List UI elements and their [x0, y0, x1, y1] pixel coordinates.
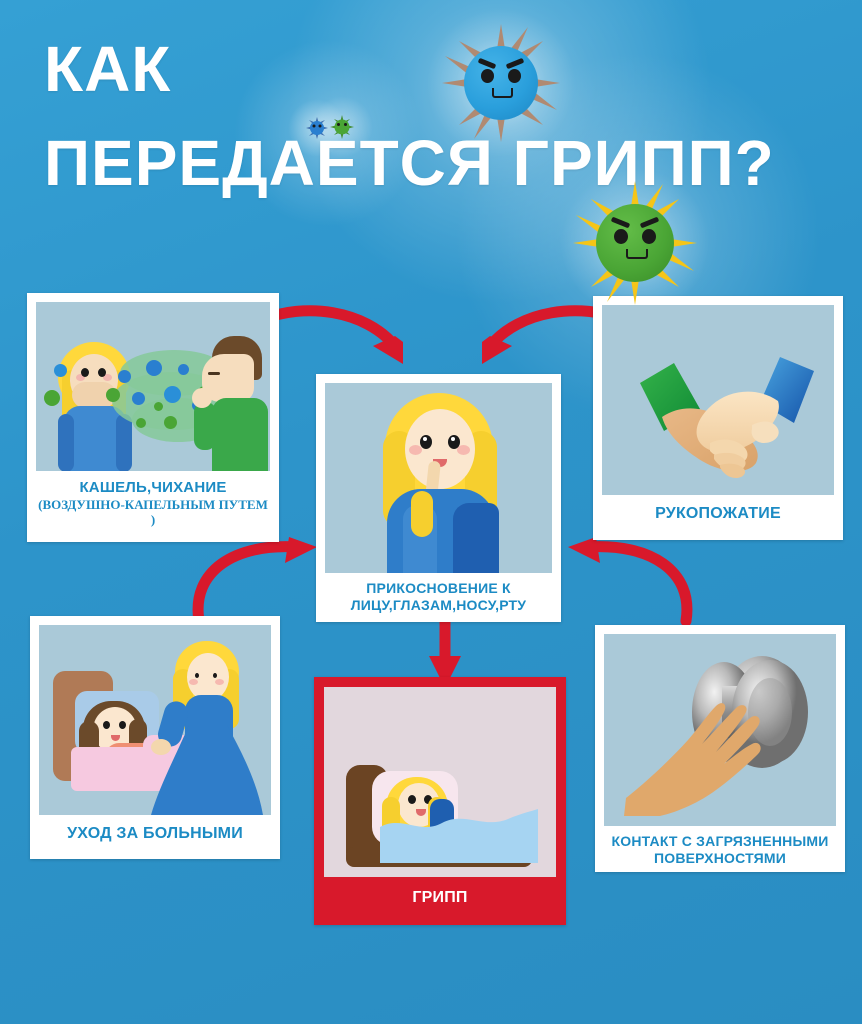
page-title-line1: КАК [44, 32, 171, 106]
virus-green-large-icon [572, 180, 698, 306]
panel-surfaces-caption: КОНТАКТ С ЗАГРЯЗНЕННЫМИ ПОВЕРХНОСТЯМИ [604, 833, 836, 866]
infographic-poster: КАК ПЕРЕДАЕТСЯ ГРИПП? [0, 0, 862, 1024]
panel-caring-for-sick[interactable]: УХОД ЗА БОЛЬНЫМИ [30, 616, 280, 859]
panel-touching-face-caption-line2: ЛИЦУ,ГЛАЗАМ,НОСУ,РТУ [351, 597, 526, 613]
panel-flu-result[interactable]: ГРИПП [314, 677, 566, 925]
panel-handshake-caption: РУКОПОЖАТИЕ [602, 505, 834, 524]
panel-cough-caption-sub: (ВОЗДУШНО-КАПЕЛЬНЫМ ПУТЕМ ) [36, 497, 270, 528]
panel-flu-caption: ГРИПП [324, 889, 556, 908]
panel-cough-caption-main: КАШЕЛЬ,ЧИХАНИЕ [79, 479, 226, 496]
contaminated-surfaces-illustration [604, 634, 836, 826]
panel-caring-caption: УХОД ЗА БОЛЬНЫМИ [39, 825, 271, 844]
handshake-illustration [602, 305, 834, 495]
panel-cough-sneeze[interactable]: КАШЕЛЬ,ЧИХАНИЕ (ВОЗДУШНО-КАПЕЛЬНЫМ ПУТЕМ… [27, 293, 279, 542]
flu-illustration [324, 687, 556, 877]
panel-cough-caption: КАШЕЛЬ,ЧИХАНИЕ (ВОЗДУШНО-КАПЕЛЬНЫМ ПУТЕМ… [36, 479, 270, 527]
touching-face-illustration [325, 383, 552, 573]
caring-for-sick-illustration [39, 625, 271, 815]
cough-illustration [36, 302, 270, 471]
panel-touching-face[interactable]: ПРИКОСНОВЕНИЕ К ЛИЦУ,ГЛАЗАМ,НОСУ,РТУ [316, 374, 561, 622]
virus-blue-large-icon [440, 22, 562, 144]
virus-blue-small-icon [306, 117, 328, 139]
blanket [380, 805, 538, 863]
panel-surfaces-caption-line1: КОНТАКТ С ЗАГРЯЗНЕННЫМИ [612, 833, 829, 849]
panel-touching-face-caption: ПРИКОСНОВЕНИЕ К ЛИЦУ,ГЛАЗАМ,НОСУ,РТУ [325, 580, 552, 613]
doorknob-svg [604, 634, 836, 826]
panel-handshake[interactable]: РУКОПОЖАТИЕ [593, 296, 843, 540]
virus-green-small-icon [330, 115, 354, 139]
arrow-cough-to-center [255, 298, 425, 378]
panel-surfaces-caption-line2: ПОВЕРХНОСТЯМИ [654, 850, 786, 866]
panel-touching-face-caption-line1: ПРИКОСНОВЕНИЕ К [366, 580, 510, 596]
arrow-surfaces-to-center [550, 525, 700, 635]
handshake-svg [602, 305, 834, 495]
panel-contaminated-surfaces[interactable]: КОНТАКТ С ЗАГРЯЗНЕННЫМИ ПОВЕРХНОСТЯМИ [595, 625, 845, 872]
